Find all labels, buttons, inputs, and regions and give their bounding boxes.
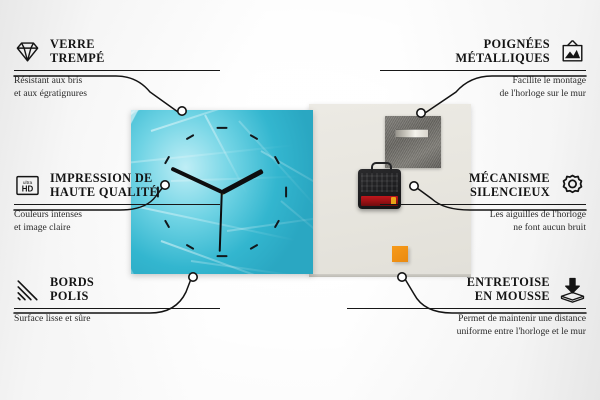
clock-hour-hand (221, 168, 264, 194)
title-line-2: MÉTALLIQUES (455, 52, 550, 65)
feature-header: MÉCANISME SILENCIEUX (380, 172, 586, 199)
feather-streak (280, 200, 313, 253)
feature-poignees-metalliques: POIGNÉES MÉTALLIQUES Facilite le montage… (380, 38, 586, 100)
desc-line-1: Permet de maintenir une distance (347, 313, 586, 325)
title-line-1: ENTRETOISE (467, 276, 550, 289)
clock-tick (250, 244, 259, 250)
clock-tick (186, 134, 195, 140)
clock-tick (285, 187, 287, 198)
feature-entretoise-en-mousse: ENTRETOISE EN MOUSSE Permet de maintenir… (347, 276, 586, 338)
title-line-1: VERRE (50, 38, 105, 51)
desc-line-2: et aux égratignures (14, 88, 220, 100)
diamond-icon (14, 38, 41, 65)
picture-hanger-icon (559, 38, 586, 65)
feature-bords-polis: BORDS POLIS Surface lisse et sûre (14, 276, 220, 326)
desc-line-1: Couleurs intenses (14, 209, 220, 221)
ultra-hd-icon: ultra HD (14, 172, 41, 199)
desc-line-1: Les aiguilles de l'horloge (380, 209, 586, 221)
title-line-1: MÉCANISME (469, 172, 550, 185)
feature-title: IMPRESSION DE HAUTE QUALITÉ (50, 172, 158, 198)
metal-hanger-part (385, 116, 441, 168)
title-line-1: BORDS (50, 276, 94, 289)
title-line-2: POLIS (50, 290, 94, 303)
title-line-2: TREMPÉ (50, 52, 105, 65)
gear-icon (559, 172, 586, 199)
desc-line-1: Résistant aux bris (14, 75, 220, 87)
divider (380, 204, 586, 205)
clock-tick (217, 127, 228, 129)
spacer-arrow-icon (559, 276, 586, 303)
feature-mecanisme-silencieux: MÉCANISME SILENCIEUX Les aiguilles de l'… (380, 172, 586, 234)
desc-line-1: Facilite le montage (380, 75, 586, 87)
title-line-1: IMPRESSION DE (50, 172, 158, 185)
desc-line-2: et image claire (14, 222, 220, 234)
divider (14, 308, 220, 309)
feature-title: BORDS POLIS (50, 276, 94, 302)
foam-spacer-part (392, 246, 408, 262)
divider (14, 70, 220, 71)
clock-tick (217, 255, 228, 257)
feather-streak (161, 240, 303, 274)
title-line-1: POIGNÉES (455, 38, 550, 51)
desc-line-2: uniforme entre l'horloge et le mur (347, 326, 586, 338)
feature-impression-haute-qualite: ultra HD IMPRESSION DE HAUTE QUALITÉ Cou… (14, 172, 220, 234)
feature-title: VERRE TREMPÉ (50, 38, 105, 64)
feature-title: ENTRETOISE EN MOUSSE (467, 276, 550, 302)
polished-edge-icon (14, 276, 41, 303)
infographic-canvas: VERRE TREMPÉ Résistant aux bris et aux é… (0, 0, 600, 400)
svg-text:HD: HD (22, 184, 34, 193)
title-line-2: HAUTE QUALITÉ (50, 186, 158, 199)
feature-title: MÉCANISME SILENCIEUX (469, 172, 550, 198)
hanger-slot (395, 129, 429, 138)
title-line-2: SILENCIEUX (469, 186, 550, 199)
divider (380, 70, 586, 71)
feature-header: BORDS POLIS (14, 276, 220, 303)
feature-header: POIGNÉES MÉTALLIQUES (380, 38, 586, 65)
title-line-2: EN MOUSSE (467, 290, 550, 303)
divider (347, 308, 586, 309)
feature-header: ultra HD IMPRESSION DE HAUTE QUALITÉ (14, 172, 220, 199)
feature-title: POIGNÉES MÉTALLIQUES (455, 38, 550, 64)
feature-verre-trempe: VERRE TREMPÉ Résistant aux bris et aux é… (14, 38, 220, 100)
desc-line-2: ne font aucun bruit (380, 222, 586, 234)
desc-line-1: Surface lisse et sûre (14, 313, 220, 325)
feature-header: ENTRETOISE EN MOUSSE (347, 276, 586, 303)
desc-line-2: de l'horloge sur le mur (380, 88, 586, 100)
divider (14, 204, 220, 205)
feature-header: VERRE TREMPÉ (14, 38, 220, 65)
